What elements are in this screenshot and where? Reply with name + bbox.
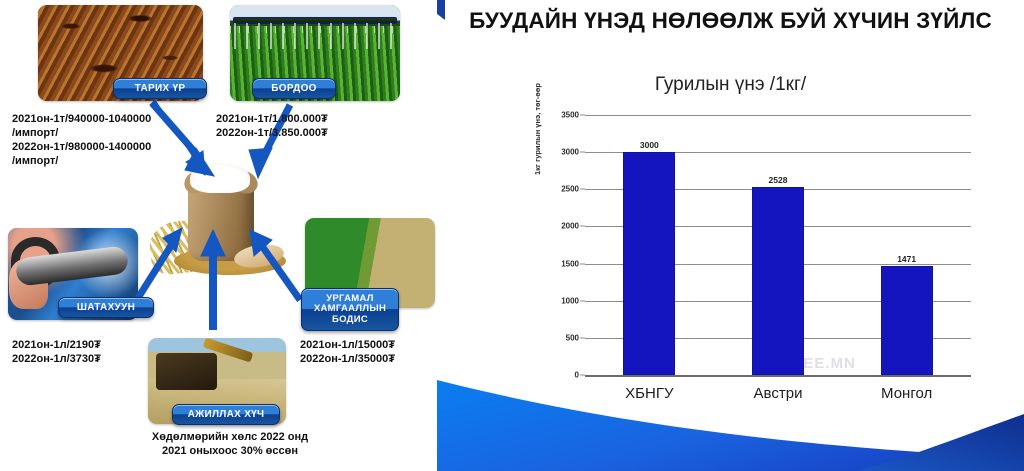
factors-diagram-panel: ТАРИХ ҮР БОРДОО ШАТАХУУН УРГАМАЛ ХАМГААЛ… bbox=[0, 0, 437, 471]
badge-pesticide[interactable]: УРГАМАЛ ХАМГААЛЛЫН БОДИС bbox=[301, 288, 399, 331]
caption-labor: Хөдөлмөрийн хөлс 2022 онд 2021 оныхоос 3… bbox=[118, 430, 342, 458]
caption-fuel: 2021он-1л/2190₮ 2022он-1л/3730₮ bbox=[12, 338, 192, 366]
chart-y-tick-label: 2000 bbox=[561, 222, 579, 231]
bar-chart-plot-area: 05001000150020002500300035003000ХБНГУ252… bbox=[585, 115, 971, 375]
chart-bar: 1471 bbox=[881, 266, 933, 375]
chart-y-tick-label: 500 bbox=[566, 333, 579, 342]
chart-bar-value-label: 1471 bbox=[897, 254, 916, 264]
chart-y-tickmark bbox=[580, 189, 585, 190]
chart-bar: 2528 bbox=[752, 187, 804, 375]
caption-seed: 2021он-1т/940000-1040000 /импорт/ 2022он… bbox=[12, 112, 222, 168]
badge-fertilizer[interactable]: БОРДОО bbox=[252, 78, 336, 99]
slide-title: БУУДАЙН ҮНЭД НӨЛӨӨЛЖ БУЙ ХҮЧИН ЗҮЙЛС bbox=[437, 8, 1024, 34]
chart-bar: 3000 bbox=[623, 152, 675, 375]
chart-y-tickmark bbox=[580, 263, 585, 264]
flow-arrows bbox=[0, 0, 437, 471]
chart-y-tickmark bbox=[580, 226, 585, 227]
footer-swoosh-decoration bbox=[437, 366, 1024, 471]
caption-fertilizer: 2021он-1т/1.800.000₮ 2022он-1т/3.850.000… bbox=[216, 112, 431, 140]
chart-gridline bbox=[585, 115, 971, 116]
screenshot-root: ТАРИХ ҮР БОРДОО ШАТАХУУН УРГАМАЛ ХАМГААЛ… bbox=[0, 0, 1024, 471]
chart-bar-value-label: 3000 bbox=[640, 140, 659, 150]
chart-y-tickmark bbox=[580, 152, 585, 153]
chart-y-tick-label: 3000 bbox=[561, 148, 579, 157]
chart-bar-value-label: 2528 bbox=[769, 175, 788, 185]
chart-title: Гурилын үнэ /1кг/ bbox=[437, 74, 1024, 96]
presentation-slide: БУУДАЙН ҮНЭД НӨЛӨӨЛЖ БУЙ ХҮЧИН ЗҮЙЛС Гур… bbox=[437, 0, 1024, 471]
badge-fuel[interactable]: ШАТАХУУН bbox=[58, 297, 154, 318]
caption-pesticide: 2021он-1л/15000₮ 2022он-1л/35000₮ bbox=[300, 338, 437, 366]
chart-y-tickmark bbox=[580, 337, 585, 338]
chart-y-tick-label: 1500 bbox=[561, 259, 579, 268]
chart-y-tick-label: 2500 bbox=[561, 185, 579, 194]
chart-y-tick-label: 3500 bbox=[561, 111, 579, 120]
chart-y-axis-label: 1кг гурилын үнэ, төг-өөр bbox=[533, 83, 542, 175]
badge-labor[interactable]: АЖИЛЛАХ ХҮЧ bbox=[172, 404, 280, 425]
chart-y-tickmark bbox=[580, 300, 585, 301]
chart-y-tickmark bbox=[580, 115, 585, 116]
chart-y-tick-label: 1000 bbox=[561, 296, 579, 305]
badge-seed[interactable]: ТАРИХ ҮР bbox=[113, 78, 207, 99]
